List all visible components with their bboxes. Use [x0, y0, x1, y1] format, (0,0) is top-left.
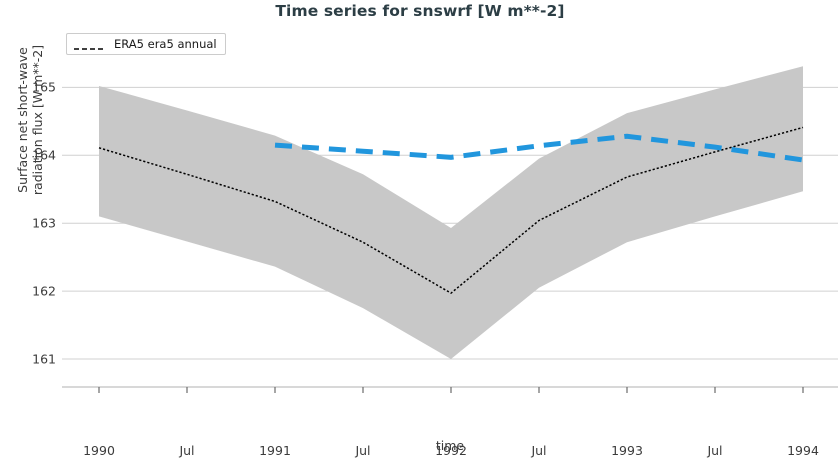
plot-area: 161162163164165 1990Jul1991Jul1992Jul199…	[62, 28, 838, 410]
y-tick-label: 161	[10, 352, 56, 367]
y-tick-label: 163	[10, 216, 56, 231]
y-tick-label: 165	[10, 80, 56, 95]
y-axis-label: Surface net short-wave radiation flux [W…	[15, 0, 45, 290]
chart-canvas	[62, 28, 838, 410]
y-tick-label: 164	[10, 148, 56, 163]
chart-figure: Time series for snswrf [W m**-2] Surface…	[0, 0, 840, 457]
x-axis-label: time	[60, 438, 840, 453]
legend-label: ERA5 era5 annual	[114, 37, 217, 51]
chart-title: Time series for snswrf [W m**-2]	[0, 2, 840, 20]
uncertainty-band	[99, 66, 803, 359]
chart-legend[interactable]: ERA5 era5 annual	[66, 33, 226, 55]
legend-line-sample-icon	[73, 39, 107, 49]
y-tick-label: 162	[10, 284, 56, 299]
